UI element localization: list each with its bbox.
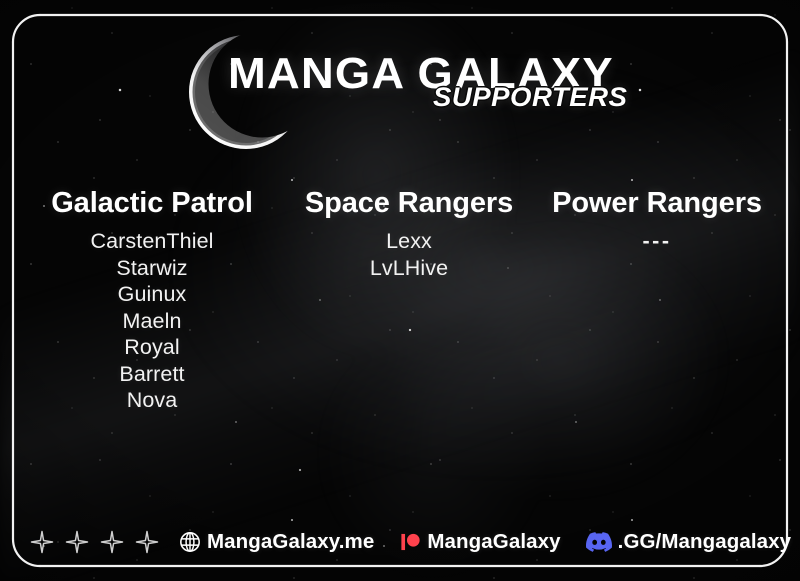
social-link-label: MangaGalaxy <box>427 532 560 553</box>
sparkle-star-icon <box>135 530 159 554</box>
tier-title: Galactic Patrol <box>18 188 286 219</box>
social-links: MangaGalaxy.me MangaGalaxy <box>179 531 791 553</box>
poster-footer: MangaGalaxy.me MangaGalaxy <box>14 518 786 566</box>
patreon-icon <box>399 531 421 553</box>
list-item: Maeln <box>18 308 286 334</box>
social-link-patreon[interactable]: MangaGalaxy <box>399 531 560 553</box>
social-link-label: MangaGalaxy.me <box>207 532 374 553</box>
sparkle-decoration-group <box>30 530 159 554</box>
tier-column-galactic-patrol: Galactic Patrol CarstenThiel Starwiz Gui… <box>18 188 286 413</box>
social-link-label: .GG/Mangagalaxy <box>618 532 792 553</box>
tier-supporter-list: --- <box>532 228 782 254</box>
tier-supporter-list: CarstenThiel Starwiz Guinux Maeln Royal … <box>18 228 286 413</box>
sparkle-star-icon <box>30 530 54 554</box>
tier-title: Power Rangers <box>532 188 782 219</box>
poster-subtitle: SUPPORTERS <box>433 84 627 111</box>
tier-column-power-rangers: Power Rangers --- <box>532 188 782 255</box>
list-item: Starwiz <box>18 255 286 281</box>
supporter-tiers: Galactic Patrol CarstenThiel Starwiz Gui… <box>14 188 786 468</box>
list-item: LvLHive <box>286 255 532 281</box>
logo-lockup: MANGA GALAXY SUPPORTERS <box>228 52 648 142</box>
list-item: Barrett <box>18 361 286 387</box>
list-item: Guinux <box>18 281 286 307</box>
tier-column-space-rangers: Space Rangers Lexx LvLHive <box>286 188 532 281</box>
tier-supporter-list: Lexx LvLHive <box>286 228 532 281</box>
poster-header: MANGA GALAXY SUPPORTERS <box>0 0 800 160</box>
sparkle-star-icon <box>100 530 124 554</box>
list-item: Nova <box>18 387 286 413</box>
list-item: Lexx <box>286 228 532 254</box>
sparkle-star-icon <box>65 530 89 554</box>
discord-icon <box>586 531 612 553</box>
empty-tier-placeholder: --- <box>532 228 782 254</box>
globe-icon <box>179 531 201 553</box>
tier-title: Space Rangers <box>286 188 532 219</box>
supporters-poster: MANGA GALAXY SUPPORTERS Galactic Patrol … <box>0 0 800 581</box>
social-link-discord[interactable]: .GG/Mangagalaxy <box>586 531 792 553</box>
list-item: CarstenThiel <box>18 228 286 254</box>
social-link-website[interactable]: MangaGalaxy.me <box>179 531 374 553</box>
list-item: Royal <box>18 334 286 360</box>
